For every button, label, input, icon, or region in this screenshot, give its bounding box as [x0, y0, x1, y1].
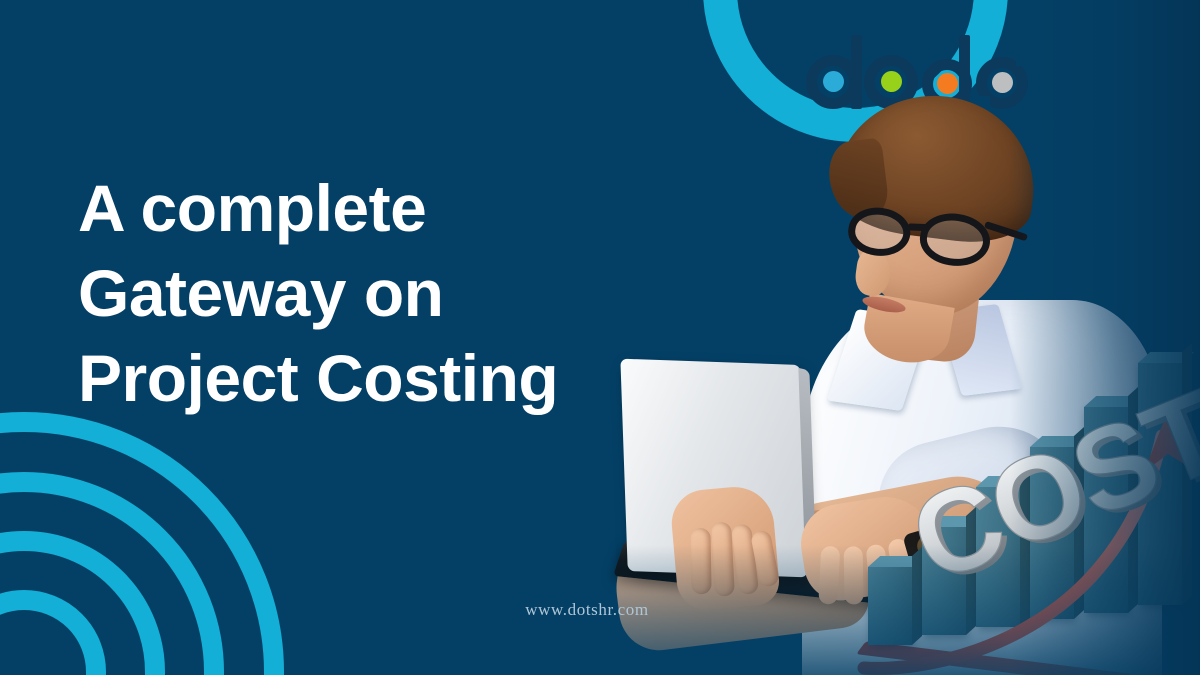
cost-growth-graphic: COST COST [856, 380, 1200, 675]
promo-banner: A complete Gateway on Project Costing [0, 0, 1200, 675]
website-url-text: www.dotshr.com [525, 600, 648, 619]
website-url[interactable]: www.dotshr.com [0, 600, 1200, 620]
cost-word-3d: COST COST [856, 380, 1200, 675]
decorative-rings-bottom-left [0, 412, 284, 675]
person-hand-left [669, 484, 781, 612]
hero-photo: COST COST [556, 0, 1200, 675]
svg-text:COST: COST [894, 380, 1200, 608]
